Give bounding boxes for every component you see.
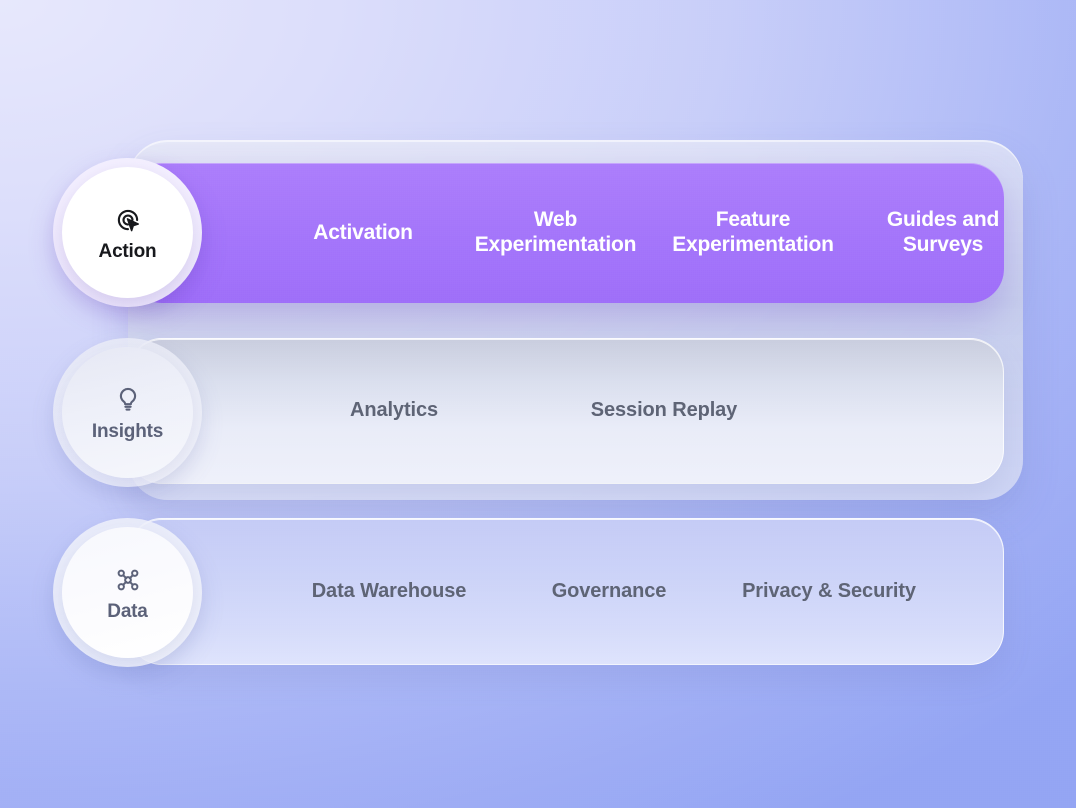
lightbulb-icon [113, 385, 143, 415]
row-insights[interactable]: Analytics Session Replay [128, 338, 1004, 484]
row-action-items: Activation Web Experimentation Feature E… [128, 208, 1004, 258]
item-label: Guides and Surveys [887, 208, 999, 256]
item-privacy-and-security[interactable]: Privacy & Security [709, 580, 949, 604]
row-data-items: Data Warehouse Governance Privacy & Secu… [129, 580, 1003, 604]
item-feature-experimentation[interactable]: Feature Experimentation [653, 208, 853, 258]
row-data[interactable]: Data Warehouse Governance Privacy & Secu… [128, 518, 1004, 665]
item-label: Data Warehouse [312, 580, 467, 602]
cursor-click-icon [113, 205, 143, 235]
item-web-experimentation[interactable]: Web Experimentation [458, 208, 653, 258]
item-analytics[interactable]: Analytics [269, 399, 519, 423]
item-label: Analytics [350, 399, 438, 421]
item-label: Activation [313, 221, 413, 244]
row-action[interactable]: Activation Web Experimentation Feature E… [128, 163, 1004, 303]
badge-action-label: Action [99, 242, 157, 261]
badge-insights-label: Insights [92, 422, 163, 441]
badge-data[interactable]: Data [62, 527, 193, 658]
item-label: Governance [552, 580, 667, 602]
item-label: Feature Experimentation [672, 208, 834, 256]
item-governance[interactable]: Governance [509, 580, 709, 604]
network-nodes-icon [113, 565, 143, 595]
item-label: Session Replay [591, 399, 737, 421]
platform-stack-diagram: Activation Web Experimentation Feature E… [0, 0, 1076, 808]
item-label: Privacy & Security [742, 580, 916, 602]
item-session-replay[interactable]: Session Replay [519, 399, 809, 423]
item-guides-and-surveys[interactable]: Guides and Surveys [853, 208, 1033, 258]
item-data-warehouse[interactable]: Data Warehouse [269, 580, 509, 604]
item-activation[interactable]: Activation [268, 221, 458, 246]
badge-insights[interactable]: Insights [62, 347, 193, 478]
row-insights-items: Analytics Session Replay [129, 399, 1003, 423]
badge-action[interactable]: Action [62, 167, 193, 298]
item-label: Web Experimentation [475, 208, 637, 256]
badge-data-label: Data [107, 602, 147, 621]
